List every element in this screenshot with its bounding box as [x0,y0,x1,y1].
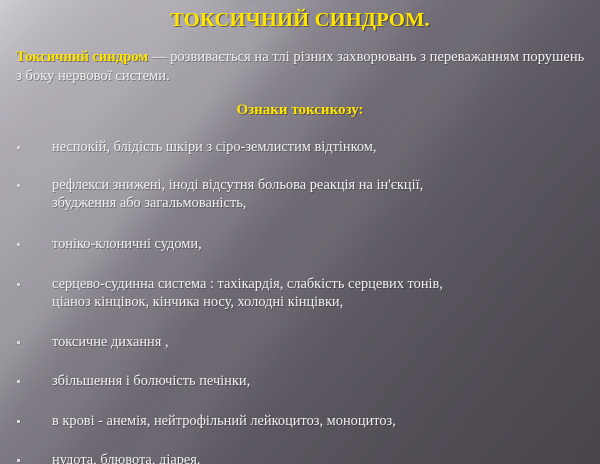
bullet-point-icon [17,146,20,149]
list-item-label: нудота, блювота, діарея. [52,451,590,464]
bullet-point-icon [17,243,20,246]
bullet-point-icon [17,459,20,462]
lead-term: Токсичний синдром [16,49,148,65]
list-item-label: збільшення і болючість печінки, [52,372,590,390]
bullet-point-icon [17,341,20,344]
presentation-slide: ТОКСИЧНИЙ СИНДРОМ. Токсичний синдром — р… [0,0,600,464]
symptom-list: неспокій, блідість шкіри з сіро-землисти… [0,132,600,464]
list-item: серцево-судинна система : тахікардія, сл… [0,275,600,311]
bullet-point-icon [17,380,20,383]
list-item-label: токсичне дихання , [52,333,590,351]
list-item: в крові - анемія, нейтрофільний лейкоцит… [0,412,600,430]
bullet-point-icon [17,283,20,286]
list-item: нудота, блювота, діарея. [0,451,600,464]
list-item-label: серцево-судинна система : тахікардія, сл… [52,275,590,311]
list-item-label: в крові - анемія, нейтрофільний лейкоцит… [52,412,590,430]
bullet-point-icon [17,420,20,423]
list-item: неспокій, блідість шкіри з сіро-землисти… [0,138,600,156]
slide-title: ТОКСИЧНИЙ СИНДРОМ. [0,9,600,32]
list-item-label: тоніко-клоничні судоми, [52,235,590,253]
bullet-point-icon [17,184,20,187]
list-item: збільшення і болючість печінки, [0,372,600,390]
list-item: тоніко-клоничні судоми, [0,235,600,253]
section-heading: Ознаки токсикозу: [0,102,600,119]
slide-content: ТОКСИЧНИЙ СИНДРОМ. Токсичний синдром — р… [0,0,600,464]
list-item-label: рефлекси знижені, іноді відсутня больова… [52,176,590,212]
list-item: токсичне дихання , [0,333,600,351]
lead-paragraph: Токсичний синдром — розвивається на тлі … [16,48,588,85]
list-item-label: неспокій, блідість шкіри з сіро-землисти… [52,138,590,156]
list-item: рефлекси знижені, іноді відсутня больова… [0,176,600,212]
